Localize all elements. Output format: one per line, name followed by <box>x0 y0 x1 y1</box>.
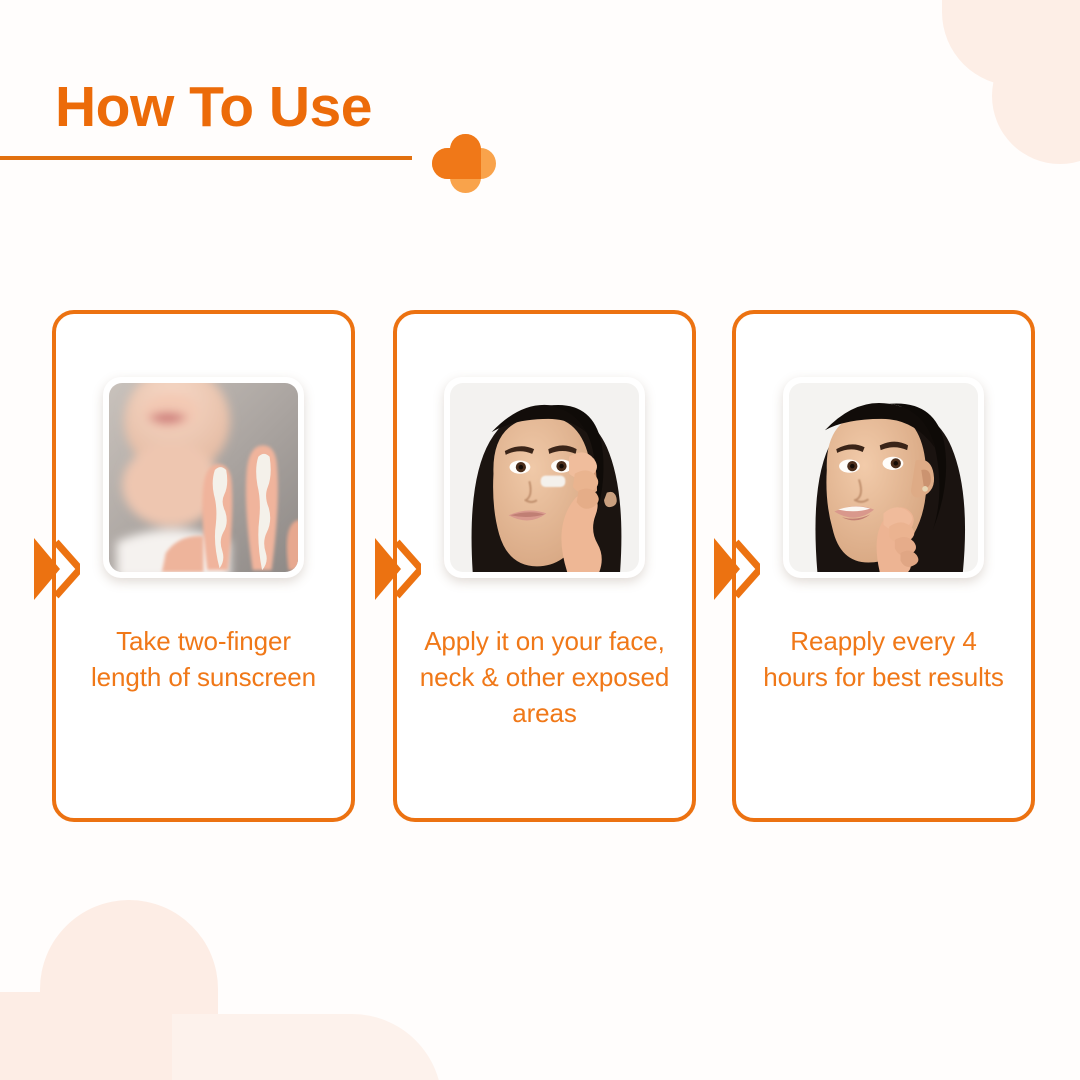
step-thumbnail-3 <box>783 377 984 578</box>
steps-row: Take two-finger length of sunscreen <box>52 310 1036 822</box>
blob-top-right-b <box>992 28 1080 164</box>
double-chevron-right-icon <box>375 536 421 602</box>
blob-bottom-left-a <box>40 900 218 1080</box>
double-chevron-right-icon <box>34 536 80 602</box>
step-caption-3: Reapply every 4 hours for best results <box>759 624 1009 696</box>
step-thumbnail-1 <box>103 377 304 578</box>
double-chevron-right-icon <box>714 536 760 602</box>
step-thumbnail-2 <box>444 377 645 578</box>
step-caption-1: Take two-finger length of sunscreen <box>79 624 329 696</box>
plus-cross-icon <box>432 134 498 200</box>
fingers-sunscreen-image <box>109 383 298 572</box>
title-divider <box>0 156 412 160</box>
blob-bottom-left-b <box>0 992 180 1080</box>
step-card-3[interactable]: Reapply every 4 hours for best results <box>732 310 1035 822</box>
plus-horizontal-bar-dark <box>432 148 481 179</box>
blob-top-right-a <box>942 0 1080 86</box>
touching-jawline-image <box>789 383 978 572</box>
step-card-2[interactable]: Apply it on your face, neck & other expo… <box>393 310 696 822</box>
step-caption-2: Apply it on your face, neck & other expo… <box>420 624 670 732</box>
blob-bottom-left-c <box>172 1014 442 1080</box>
page-title: How To Use <box>55 78 372 138</box>
step-card-1[interactable]: Take two-finger length of sunscreen <box>52 310 355 822</box>
applying-cream-image <box>450 383 639 572</box>
